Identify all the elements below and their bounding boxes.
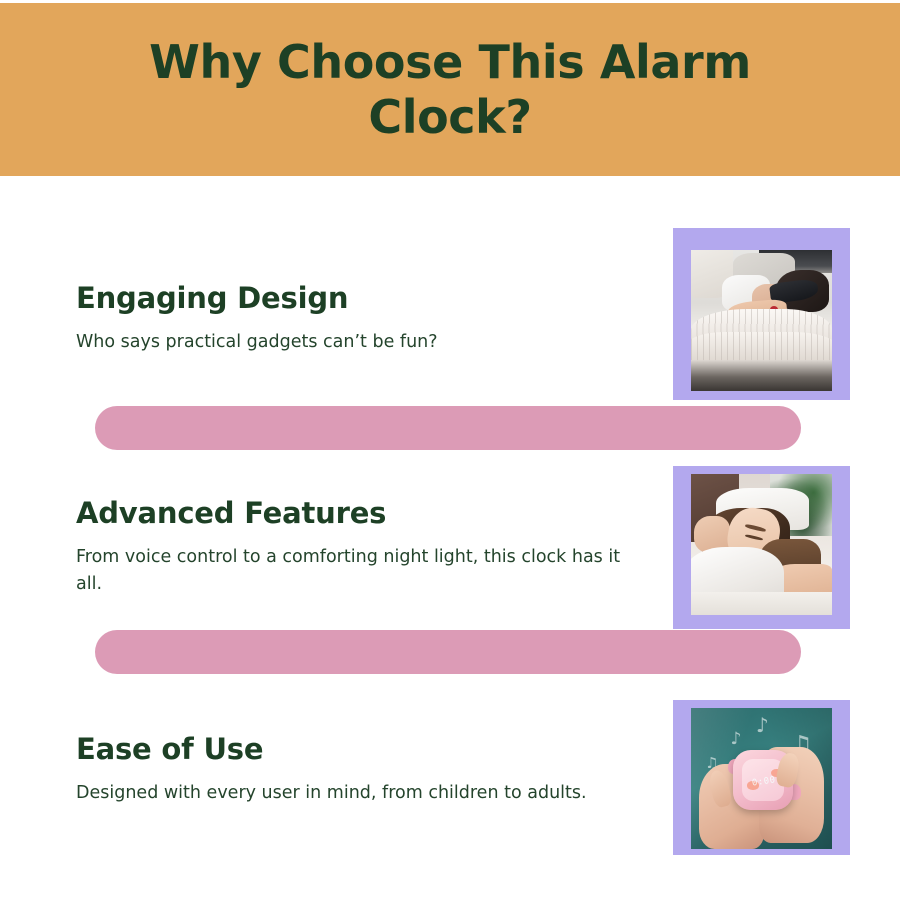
section-3-body: Designed with every user in mind, from c… — [76, 780, 621, 807]
section-ease-of-use: Ease of Use Designed with every user in … — [76, 734, 636, 807]
photo-1-canvas — [691, 250, 832, 391]
infographic-page: Why Choose This Alarm Clock? — [0, 0, 900, 923]
divider-bar-1 — [95, 406, 801, 450]
photo-2-canvas — [691, 474, 832, 615]
section-3-title: Ease of Use — [76, 734, 636, 766]
header-band: Why Choose This Alarm Clock? — [0, 3, 900, 176]
divider-bar-2 — [95, 630, 801, 674]
section-1-title: Engaging Design — [76, 283, 636, 315]
section-1-body: Who says practical gadgets can’t be fun? — [76, 329, 621, 356]
music-note-icon: ♪ — [756, 715, 769, 735]
section-2-body: From voice control to a comforting night… — [76, 544, 621, 598]
section-engaging-design: Engaging Design Who says practical gadge… — [76, 283, 636, 356]
music-note-icon: ♪ — [730, 731, 741, 748]
photo-2-bed-sheet — [691, 592, 832, 615]
photo-1-pillow-lower — [691, 332, 832, 363]
photo-ease-of-use: ♪ ♫ ♪ ♫ ♪ ♫ 0:00 — [691, 708, 832, 849]
section-2-title: Advanced Features — [76, 498, 636, 530]
photo-3-canvas: ♪ ♫ ♪ ♫ ♪ ♫ 0:00 — [691, 708, 832, 849]
section-advanced-features: Advanced Features From voice control to … — [76, 498, 636, 598]
photo-engaging-design — [691, 250, 832, 391]
photo-advanced-features — [691, 474, 832, 615]
photo-1-reflection — [691, 360, 832, 391]
page-title: Why Choose This Alarm Clock? — [100, 35, 800, 144]
